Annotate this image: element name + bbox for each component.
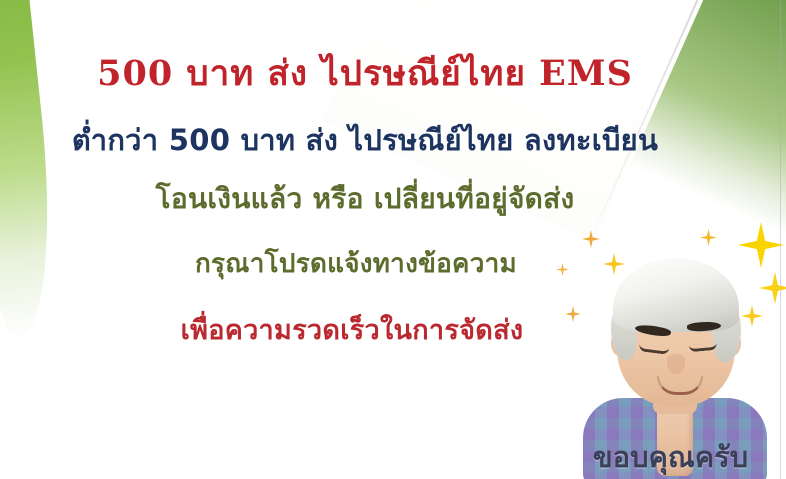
avatar-smile-mouth bbox=[657, 376, 703, 395]
thank-you-caption: ขอบคุณครับ bbox=[568, 434, 773, 479]
sparkle-2-icon bbox=[603, 253, 625, 275]
avatar-hair-side-left bbox=[611, 302, 637, 360]
avatar-eye-right-closed bbox=[689, 343, 718, 352]
avatar-head bbox=[617, 266, 735, 406]
avatar-wai-hands-icon bbox=[657, 390, 693, 476]
avatar-eyebrow-left bbox=[635, 323, 672, 338]
top-right-white-overlay bbox=[321, 0, 770, 243]
left-green-stripe bbox=[0, 0, 65, 343]
avatar-eye-left-closed bbox=[639, 344, 670, 355]
sparkle-4-icon bbox=[738, 222, 784, 268]
sparkle-7-icon bbox=[741, 305, 763, 327]
promo-graphic-canvas: 500 บาท ส่ง ไปรษณีย์ไทย EMS ต่ำกว่า 500 … bbox=[0, 0, 786, 479]
avatar-hair bbox=[613, 258, 739, 332]
message-line-1: 500 บาท ส่ง ไปรษณีย์ไทย EMS bbox=[0, 46, 730, 101]
sparkle-1-icon bbox=[582, 230, 600, 248]
right-edge-border-line bbox=[780, 0, 781, 479]
avatar bbox=[575, 250, 775, 479]
sparkle-5-icon bbox=[759, 272, 786, 304]
message-line-3: โอนเงินแล้ว หรือ เปลี่ยนที่อยู่จัดส่ง bbox=[0, 177, 730, 221]
avatar-hair-side-right bbox=[713, 302, 741, 362]
message-line-4: กรุณาโปรดแจ้งทางข้อความ bbox=[0, 243, 730, 284]
message-line-2: ต่ำกว่า 500 บาท ส่ง ไปรษณีย์ไทย ลงทะเบีย… bbox=[0, 117, 730, 163]
sparkle-6-icon bbox=[565, 306, 581, 322]
avatar-neck bbox=[653, 376, 697, 414]
sparkle-3-icon bbox=[700, 229, 717, 246]
avatar-nose bbox=[667, 354, 685, 374]
avatar-plaid-shirt bbox=[583, 398, 767, 479]
avatar-ear-left bbox=[611, 330, 628, 356]
top-right-thin-line bbox=[587, 0, 752, 245]
avatar-ear-right bbox=[724, 330, 741, 356]
message-line-5: เพื่อความรวดเร็วในการจัดส่ง bbox=[0, 308, 730, 351]
message-text-block: 500 บาท ส่ง ไปรษณีย์ไทย EMS ต่ำกว่า 500 … bbox=[0, 0, 730, 351]
sparkle-8-icon bbox=[556, 263, 569, 276]
top-right-green-wedge bbox=[421, 0, 786, 244]
avatar-eyebrow-right bbox=[687, 321, 722, 332]
